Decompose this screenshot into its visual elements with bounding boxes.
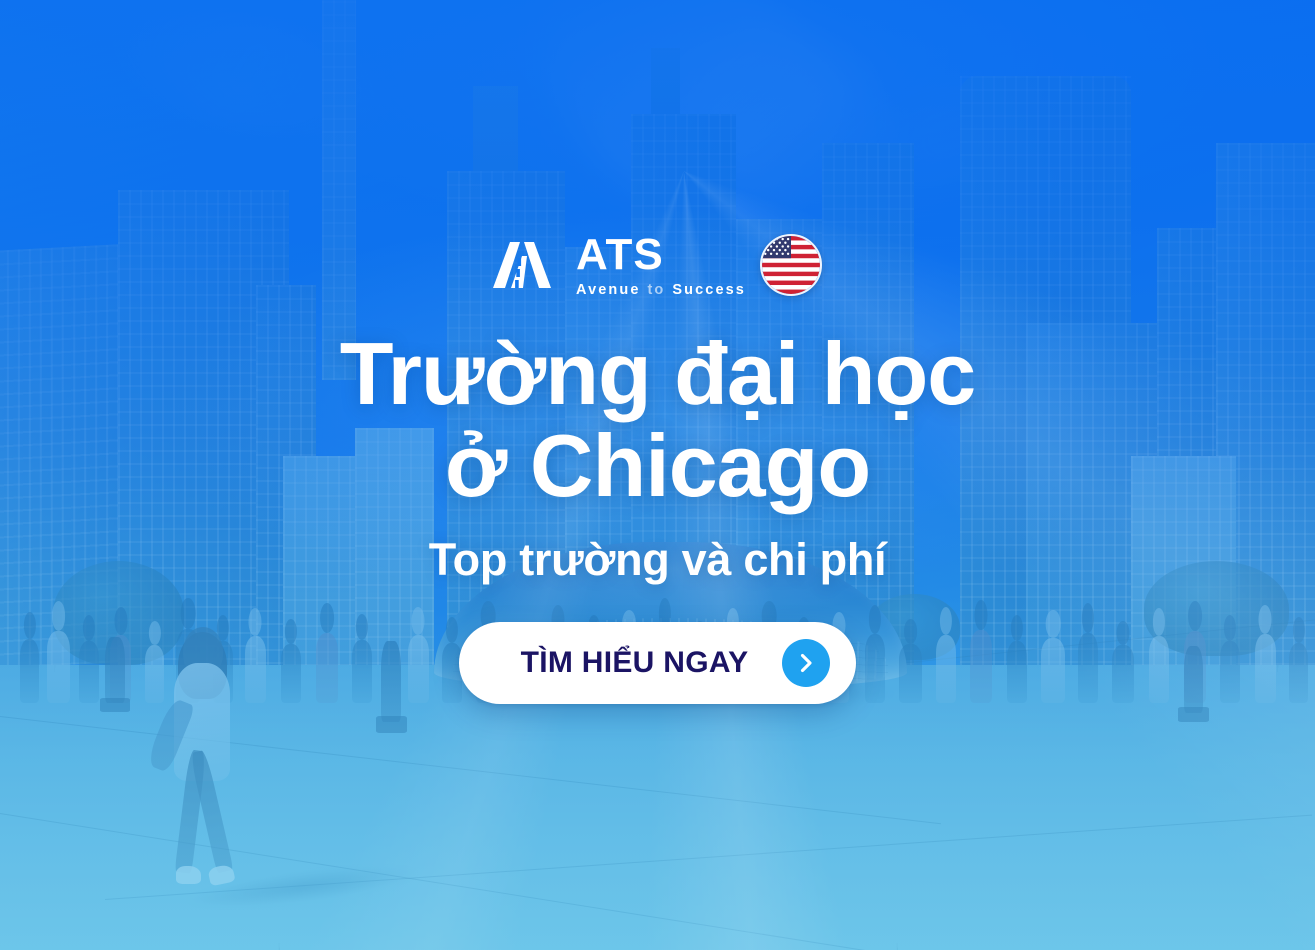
learn-more-button-label: TÌM HIỂU NGAY: [521, 646, 749, 680]
avenue-road-a-mark-icon: [493, 242, 565, 288]
chevron-right-icon: [782, 639, 830, 687]
headline-line-2: ở Chicago: [340, 420, 975, 512]
hero-content: ATS Avenue to Success: [0, 0, 1315, 950]
hero-banner: ATS Avenue to Success: [0, 0, 1315, 950]
page-subtitle: Top trường và chi phí: [429, 534, 886, 586]
logo-text-block: ATS Avenue to Success: [576, 233, 746, 298]
brand-name: ATS: [576, 233, 746, 276]
brand-logo[interactable]: ATS Avenue to Success: [493, 233, 822, 298]
tagline-word-to: to: [648, 283, 666, 298]
tagline-word-avenue: Avenue: [576, 283, 640, 298]
learn-more-button[interactable]: TÌM HIỂU NGAY: [459, 622, 857, 704]
us-flag-circle-icon: [760, 234, 822, 296]
page-title: Trường đại học ở Chicago: [340, 328, 975, 513]
logo-lockup: ATS Avenue to Success: [493, 233, 746, 298]
tagline-word-success: Success: [672, 283, 746, 298]
headline-line-1: Trường đại học: [340, 328, 975, 420]
brand-tagline: Avenue to Success: [576, 283, 746, 298]
